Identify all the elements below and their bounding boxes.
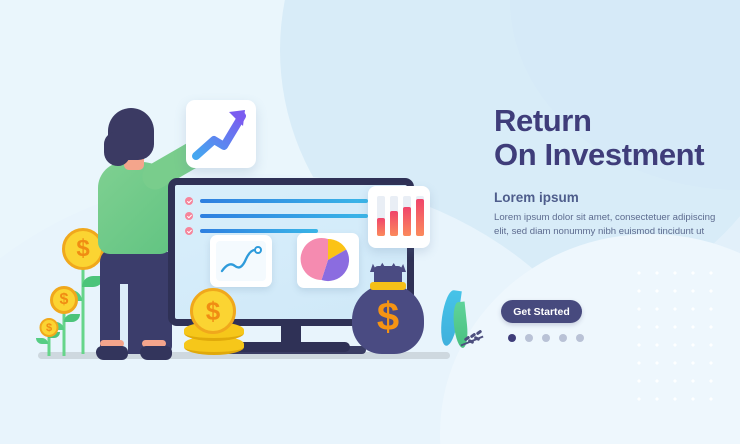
person-shoe-left	[96, 346, 128, 360]
decorative-plant	[432, 290, 484, 356]
money-bag: $	[352, 262, 424, 354]
get-started-button[interactable]: Get Started	[501, 300, 582, 323]
pagination-dot-3[interactable]	[542, 334, 550, 342]
pagination-dot-1[interactable]	[508, 334, 516, 342]
pie-chart-icon	[297, 233, 359, 288]
carousel-pagination	[508, 334, 584, 342]
line-chart-card	[210, 235, 272, 287]
bar-chart-icon	[377, 196, 424, 236]
progress-row	[185, 212, 375, 220]
dollar-sign-icon: $	[352, 296, 424, 338]
coin-stack: $	[180, 288, 248, 356]
growth-arrow-card	[186, 100, 256, 168]
text-content: Return On Investment Lorem ipsum Lorem i…	[494, 104, 732, 238]
progress-bar	[200, 214, 368, 219]
check-icon	[185, 212, 193, 220]
growth-arrow-icon	[186, 100, 256, 168]
monitor-base	[232, 342, 350, 352]
page-title: Return On Investment	[494, 104, 732, 172]
check-icon	[185, 197, 193, 205]
dot-pattern	[630, 264, 722, 404]
check-icon	[185, 227, 193, 235]
money-plant-small: $	[36, 318, 62, 356]
pagination-dot-2[interactable]	[525, 334, 533, 342]
coin-icon: $	[190, 288, 236, 334]
pagination-dot-4[interactable]	[559, 334, 567, 342]
headline-line-2: On Investment	[494, 138, 732, 172]
body-paragraph: Lorem ipsum dolor sit amet, consectetuer…	[494, 211, 722, 238]
person-legs	[100, 248, 172, 354]
illustration-canvas: $ $ $	[0, 0, 740, 444]
progress-row	[185, 197, 375, 205]
line-chart-icon	[210, 235, 272, 287]
pie-chart-card	[297, 233, 359, 288]
person-shoe-right	[140, 346, 172, 360]
headline-line-1: Return	[494, 103, 592, 138]
plant-coin-icon: $	[50, 286, 78, 314]
bar-chart-card	[368, 186, 430, 248]
subheading: Lorem ipsum	[494, 190, 732, 205]
plant-coin-icon: $	[40, 318, 59, 337]
progress-bar	[200, 199, 368, 204]
pagination-dot-5[interactable]	[576, 334, 584, 342]
